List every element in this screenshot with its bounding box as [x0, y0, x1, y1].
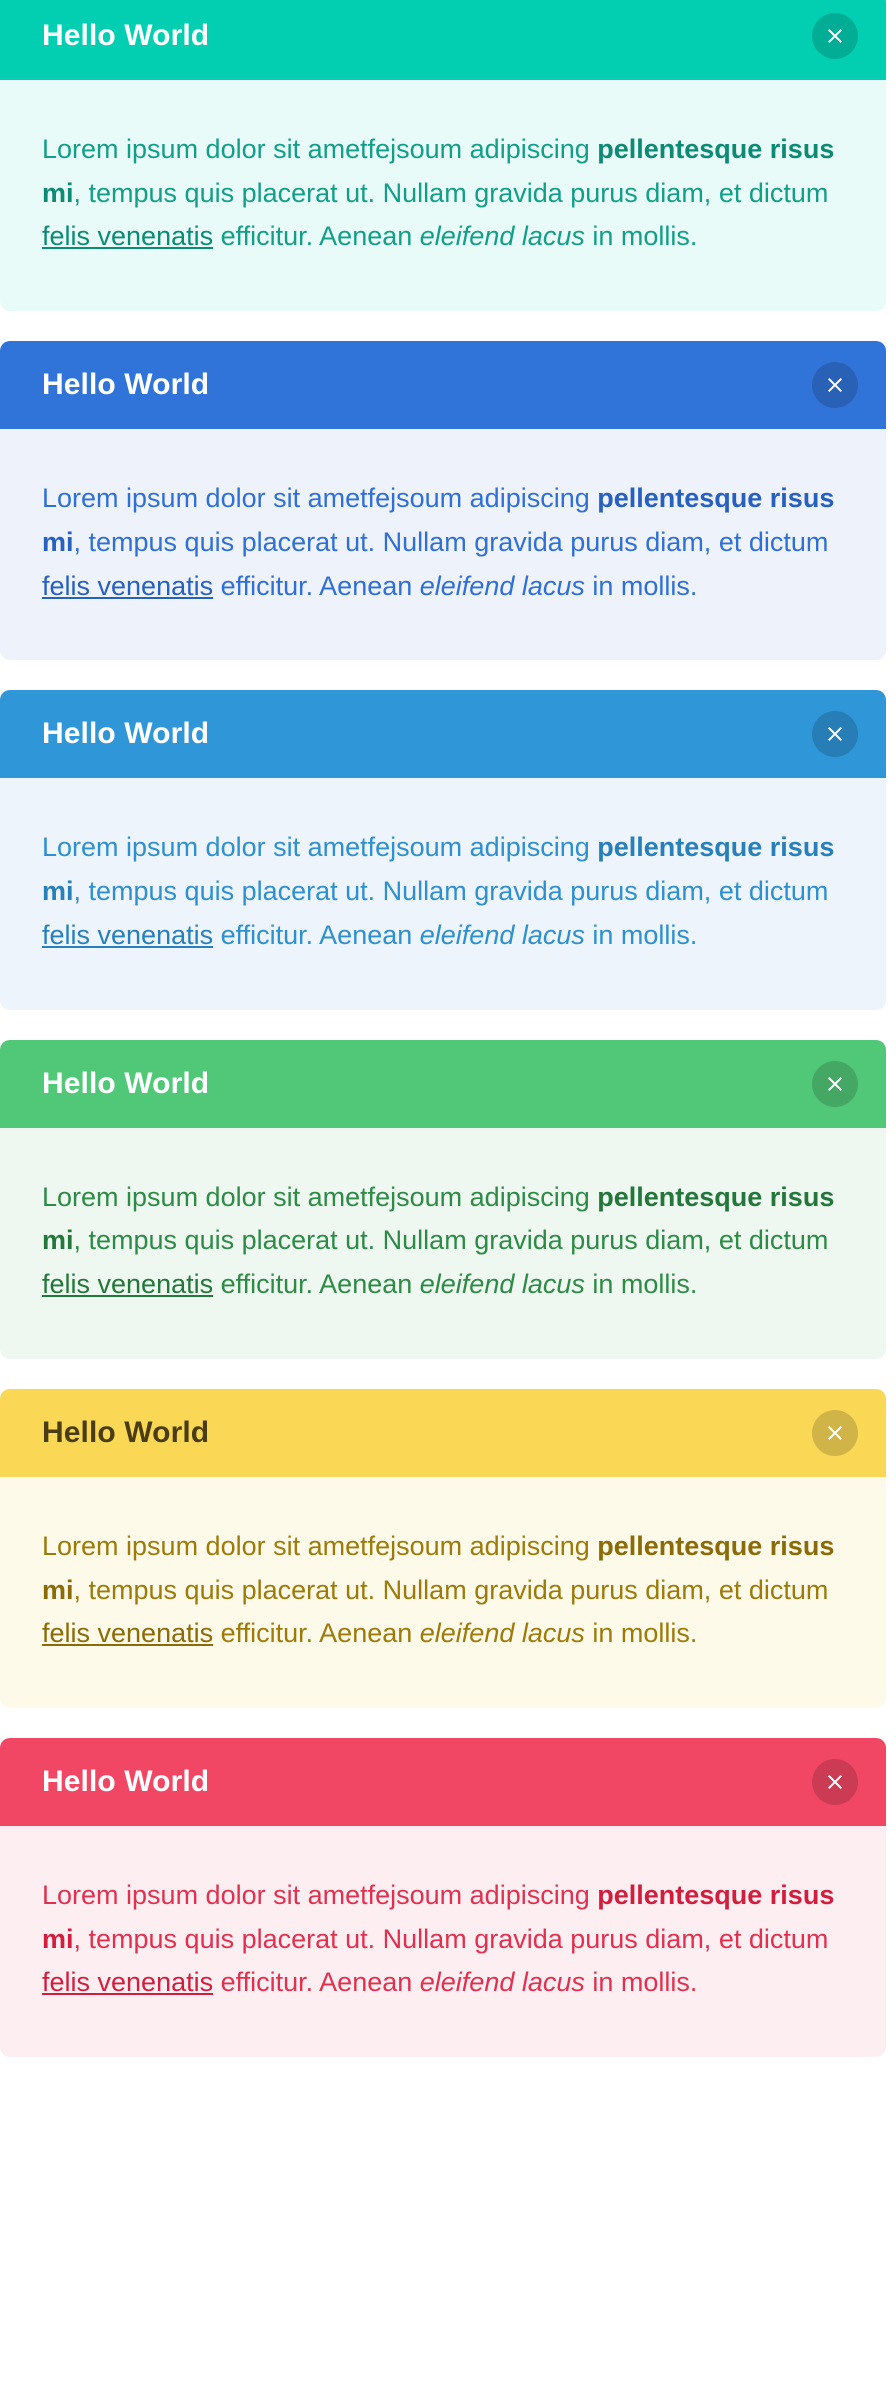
- alert-header-primary: Hello World: [0, 341, 886, 429]
- close-icon: [825, 1772, 845, 1792]
- close-icon: [825, 375, 845, 395]
- body-lead-text: Lorem ipsum dolor sit ametfejsoum adipis…: [42, 483, 597, 513]
- body-italic-text: eleifend lacus: [420, 1618, 585, 1648]
- alert-card-success: Hello World Lorem ipsum dolor sit ametfe…: [0, 1040, 886, 1359]
- alert-body-paragraph: Lorem ipsum dolor sit ametfejsoum adipis…: [42, 826, 844, 957]
- body-after-link-text: efficitur. Aenean: [213, 1269, 420, 1299]
- close-icon: [825, 724, 845, 744]
- body-tail-text: in mollis.: [585, 1618, 698, 1648]
- body-lead-text: Lorem ipsum dolor sit ametfejsoum adipis…: [42, 134, 597, 164]
- alert-body-paragraph: Lorem ipsum dolor sit ametfejsoum adipis…: [42, 1525, 844, 1656]
- alert-title-primary: Hello World: [42, 367, 209, 403]
- body-middle-text: , tempus quis placerat ut. Nullam gravid…: [74, 1225, 829, 1255]
- body-after-link-text: efficitur. Aenean: [213, 1967, 420, 1997]
- felis-venenatis-link[interactable]: felis venenatis: [42, 1269, 213, 1299]
- felis-venenatis-link[interactable]: felis venenatis: [42, 1967, 213, 1997]
- body-lead-text: Lorem ipsum dolor sit ametfejsoum adipis…: [42, 1182, 597, 1212]
- alert-card-warning: Hello World Lorem ipsum dolor sit ametfe…: [0, 1389, 886, 1708]
- body-after-link-text: efficitur. Aenean: [213, 920, 420, 950]
- body-after-link-text: efficitur. Aenean: [213, 571, 420, 601]
- alert-card-primary: Hello World Lorem ipsum dolor sit ametfe…: [0, 341, 886, 660]
- alert-body-success: Lorem ipsum dolor sit ametfejsoum adipis…: [0, 1128, 886, 1359]
- body-italic-text: eleifend lacus: [420, 571, 585, 601]
- body-tail-text: in mollis.: [585, 221, 698, 251]
- alert-body-teal: Lorem ipsum dolor sit ametfejsoum adipis…: [0, 80, 886, 311]
- body-italic-text: eleifend lacus: [420, 221, 585, 251]
- body-tail-text: in mollis.: [585, 1967, 698, 1997]
- alert-title-danger: Hello World: [42, 1764, 209, 1800]
- close-button-info[interactable]: [812, 711, 858, 757]
- alert-header-teal: Hello World: [0, 0, 886, 80]
- close-icon: [825, 1074, 845, 1094]
- body-middle-text: , tempus quis placerat ut. Nullam gravid…: [74, 1575, 829, 1605]
- alert-body-paragraph: Lorem ipsum dolor sit ametfejsoum adipis…: [42, 128, 844, 259]
- felis-venenatis-link[interactable]: felis venenatis: [42, 221, 213, 251]
- body-middle-text: , tempus quis placerat ut. Nullam gravid…: [74, 876, 829, 906]
- alert-title-success: Hello World: [42, 1066, 209, 1102]
- alert-body-danger: Lorem ipsum dolor sit ametfejsoum adipis…: [0, 1826, 886, 2057]
- alert-card-teal: Hello World Lorem ipsum dolor sit ametfe…: [0, 0, 886, 311]
- close-button-warning[interactable]: [812, 1410, 858, 1456]
- close-icon: [825, 1423, 845, 1443]
- body-middle-text: , tempus quis placerat ut. Nullam gravid…: [74, 1924, 829, 1954]
- body-italic-text: eleifend lacus: [420, 1269, 585, 1299]
- alert-body-warning: Lorem ipsum dolor sit ametfejsoum adipis…: [0, 1477, 886, 1708]
- alert-title-teal: Hello World: [42, 18, 209, 54]
- felis-venenatis-link[interactable]: felis venenatis: [42, 1618, 213, 1648]
- felis-venenatis-link[interactable]: felis venenatis: [42, 920, 213, 950]
- body-lead-text: Lorem ipsum dolor sit ametfejsoum adipis…: [42, 1880, 597, 1910]
- close-button-primary[interactable]: [812, 362, 858, 408]
- alert-stack: Hello World Lorem ipsum dolor sit ametfe…: [0, 0, 896, 2057]
- alert-body-primary: Lorem ipsum dolor sit ametfejsoum adipis…: [0, 429, 886, 660]
- body-tail-text: in mollis.: [585, 1269, 698, 1299]
- body-middle-text: , tempus quis placerat ut. Nullam gravid…: [74, 178, 829, 208]
- close-button-teal[interactable]: [812, 13, 858, 59]
- alert-body-paragraph: Lorem ipsum dolor sit ametfejsoum adipis…: [42, 1176, 844, 1307]
- felis-venenatis-link[interactable]: felis venenatis: [42, 571, 213, 601]
- body-italic-text: eleifend lacus: [420, 920, 585, 950]
- alert-card-info: Hello World Lorem ipsum dolor sit ametfe…: [0, 690, 886, 1009]
- close-icon: [825, 26, 845, 46]
- body-middle-text: , tempus quis placerat ut. Nullam gravid…: [74, 527, 829, 557]
- body-lead-text: Lorem ipsum dolor sit ametfejsoum adipis…: [42, 832, 597, 862]
- close-button-danger[interactable]: [812, 1759, 858, 1805]
- alert-header-success: Hello World: [0, 1040, 886, 1128]
- alert-title-warning: Hello World: [42, 1415, 209, 1451]
- alert-header-danger: Hello World: [0, 1738, 886, 1826]
- alert-body-info: Lorem ipsum dolor sit ametfejsoum adipis…: [0, 778, 886, 1009]
- alert-card-danger: Hello World Lorem ipsum dolor sit ametfe…: [0, 1738, 886, 2057]
- body-tail-text: in mollis.: [585, 571, 698, 601]
- alert-body-paragraph: Lorem ipsum dolor sit ametfejsoum adipis…: [42, 1874, 844, 2005]
- body-after-link-text: efficitur. Aenean: [213, 221, 420, 251]
- alert-header-info: Hello World: [0, 690, 886, 778]
- body-after-link-text: efficitur. Aenean: [213, 1618, 420, 1648]
- body-tail-text: in mollis.: [585, 920, 698, 950]
- alert-title-info: Hello World: [42, 716, 209, 752]
- alert-body-paragraph: Lorem ipsum dolor sit ametfejsoum adipis…: [42, 477, 844, 608]
- body-lead-text: Lorem ipsum dolor sit ametfejsoum adipis…: [42, 1531, 597, 1561]
- close-button-success[interactable]: [812, 1061, 858, 1107]
- body-italic-text: eleifend lacus: [420, 1967, 585, 1997]
- alert-header-warning: Hello World: [0, 1389, 886, 1477]
